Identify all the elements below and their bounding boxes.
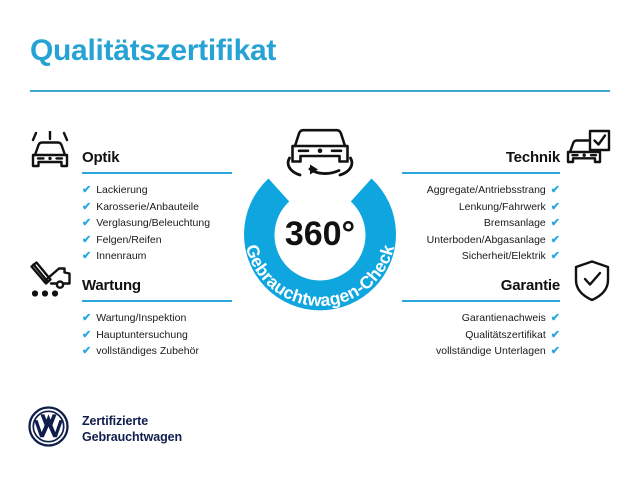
section-garantie-items: Garantienachweis ✔ Qualitätszertifikat ✔… xyxy=(402,310,560,360)
list-item-label: Karosserie/Anbauteile xyxy=(96,199,199,216)
section-wartung-divider xyxy=(82,300,232,302)
list-item-label: Unterboden/Abgasanlage xyxy=(427,232,546,249)
list-item-label: Aggregate/Antriebsstrang xyxy=(427,182,546,199)
list-item: ✔ Karosserie/Anbauteile xyxy=(82,199,232,216)
list-item-label: Garantienachweis xyxy=(462,310,546,327)
check-icon: ✔ xyxy=(82,343,91,360)
car-front-rotate-icon xyxy=(288,130,352,175)
section-garantie-divider xyxy=(402,300,560,302)
car-shine-icon xyxy=(26,131,74,178)
car-checkbox-icon xyxy=(566,129,612,176)
list-item-label: Lackierung xyxy=(96,182,147,199)
list-item-label: Bremsanlage xyxy=(484,215,546,232)
list-item: ✔ Verglasung/Beleuchtung xyxy=(82,215,232,232)
check-icon: ✔ xyxy=(551,343,560,360)
list-item-label: Wartung/Inspektion xyxy=(96,310,186,327)
footer-brand: Zertifizierte Gebrauchtwagen xyxy=(28,406,182,452)
title-divider xyxy=(30,90,610,92)
list-item: Qualitätszertifikat ✔ xyxy=(402,327,560,344)
list-item: ✔ Lackierung xyxy=(82,182,232,199)
section-technik-header: Technik xyxy=(402,140,560,174)
check-icon: ✔ xyxy=(551,215,560,232)
wrench-car-icon xyxy=(26,259,74,308)
badge-360-gebrauchtwagen-check: Gebrauchtwagen-Check 360° xyxy=(228,118,412,314)
list-item: ✔ Wartung/Inspektion xyxy=(82,310,232,327)
check-icon: ✔ xyxy=(551,248,560,265)
check-icon: ✔ xyxy=(82,215,91,232)
check-icon: ✔ xyxy=(82,310,91,327)
list-item: ✔ Felgen/Reifen xyxy=(82,232,232,249)
list-item-label: Verglasung/Beleuchtung xyxy=(96,215,210,232)
check-icon: ✔ xyxy=(82,199,91,216)
list-item-label: Sicherheit/Elektrik xyxy=(462,248,546,265)
section-optik-items: ✔ Lackierung ✔ Karosserie/Anbauteile ✔ V… xyxy=(82,182,232,265)
section-technik-items: Aggregate/Antriebsstrang ✔ Lenkung/Fahrw… xyxy=(402,182,560,265)
list-item: ✔ vollständiges Zubehör xyxy=(82,343,232,360)
section-technik: Technik Aggregate/Antriebsstrang ✔ Lenku… xyxy=(402,140,560,265)
check-icon: ✔ xyxy=(82,248,91,265)
footer-line-2: Gebrauchtwagen xyxy=(82,429,182,445)
check-icon: ✔ xyxy=(551,327,560,344)
list-item: ✔ Innenraum xyxy=(82,248,232,265)
check-icon: ✔ xyxy=(82,182,91,199)
list-item-label: vollständige Unterlagen xyxy=(436,343,546,360)
list-item: Sicherheit/Elektrik ✔ xyxy=(402,248,560,265)
list-item: Bremsanlage ✔ xyxy=(402,215,560,232)
section-wartung-items: ✔ Wartung/Inspektion ✔ Hauptuntersuchung… xyxy=(82,310,232,360)
list-item-label: Qualitätszertifikat xyxy=(465,327,546,344)
section-wartung-heading: Wartung xyxy=(82,277,141,294)
check-icon: ✔ xyxy=(551,310,560,327)
certificate-page: Qualitätszertifikat xyxy=(0,0,640,480)
footer-line-1: Zertifizierte xyxy=(82,413,182,429)
section-optik-divider xyxy=(82,172,232,174)
check-icon: ✔ xyxy=(551,182,560,199)
list-item-label: Lenkung/Fahrwerk xyxy=(459,199,546,216)
section-wartung-header: Wartung xyxy=(82,268,232,302)
footer-brand-text: Zertifizierte Gebrauchtwagen xyxy=(82,413,182,445)
check-icon: ✔ xyxy=(551,232,560,249)
section-garantie-header: Garantie xyxy=(402,268,560,302)
list-item: Aggregate/Antriebsstrang ✔ xyxy=(402,182,560,199)
page-title: Qualitätszertifikat xyxy=(30,34,276,68)
list-item-label: Felgen/Reifen xyxy=(96,232,161,249)
section-garantie-heading: Garantie xyxy=(501,277,560,294)
list-item-label: Innenraum xyxy=(96,248,146,265)
list-item: Lenkung/Fahrwerk ✔ xyxy=(402,199,560,216)
section-technik-heading: Technik xyxy=(506,149,560,166)
list-item-label: Hauptuntersuchung xyxy=(96,327,188,344)
check-icon: ✔ xyxy=(551,199,560,216)
list-item: Unterboden/Abgasanlage ✔ xyxy=(402,232,560,249)
section-optik-heading: Optik xyxy=(82,149,119,166)
section-optik-header: Optik xyxy=(82,140,232,174)
list-item: Garantienachweis ✔ xyxy=(402,310,560,327)
section-technik-divider xyxy=(402,172,560,174)
section-wartung: Wartung ✔ Wartung/Inspektion ✔ Hauptunte… xyxy=(82,268,232,360)
list-item-label: vollständiges Zubehör xyxy=(96,343,199,360)
badge-center-label: 360° xyxy=(285,215,355,253)
section-optik: Optik ✔ Lackierung ✔ Karosserie/Anbautei… xyxy=(82,140,232,265)
check-icon: ✔ xyxy=(82,327,91,344)
shield-check-icon xyxy=(572,259,612,308)
list-item: ✔ Hauptuntersuchung xyxy=(82,327,232,344)
check-icon: ✔ xyxy=(82,232,91,249)
volkswagen-logo xyxy=(28,406,69,452)
list-item: vollständige Unterlagen ✔ xyxy=(402,343,560,360)
section-garantie: Garantie Garantienachweis ✔ Qualitätszer… xyxy=(402,268,560,360)
